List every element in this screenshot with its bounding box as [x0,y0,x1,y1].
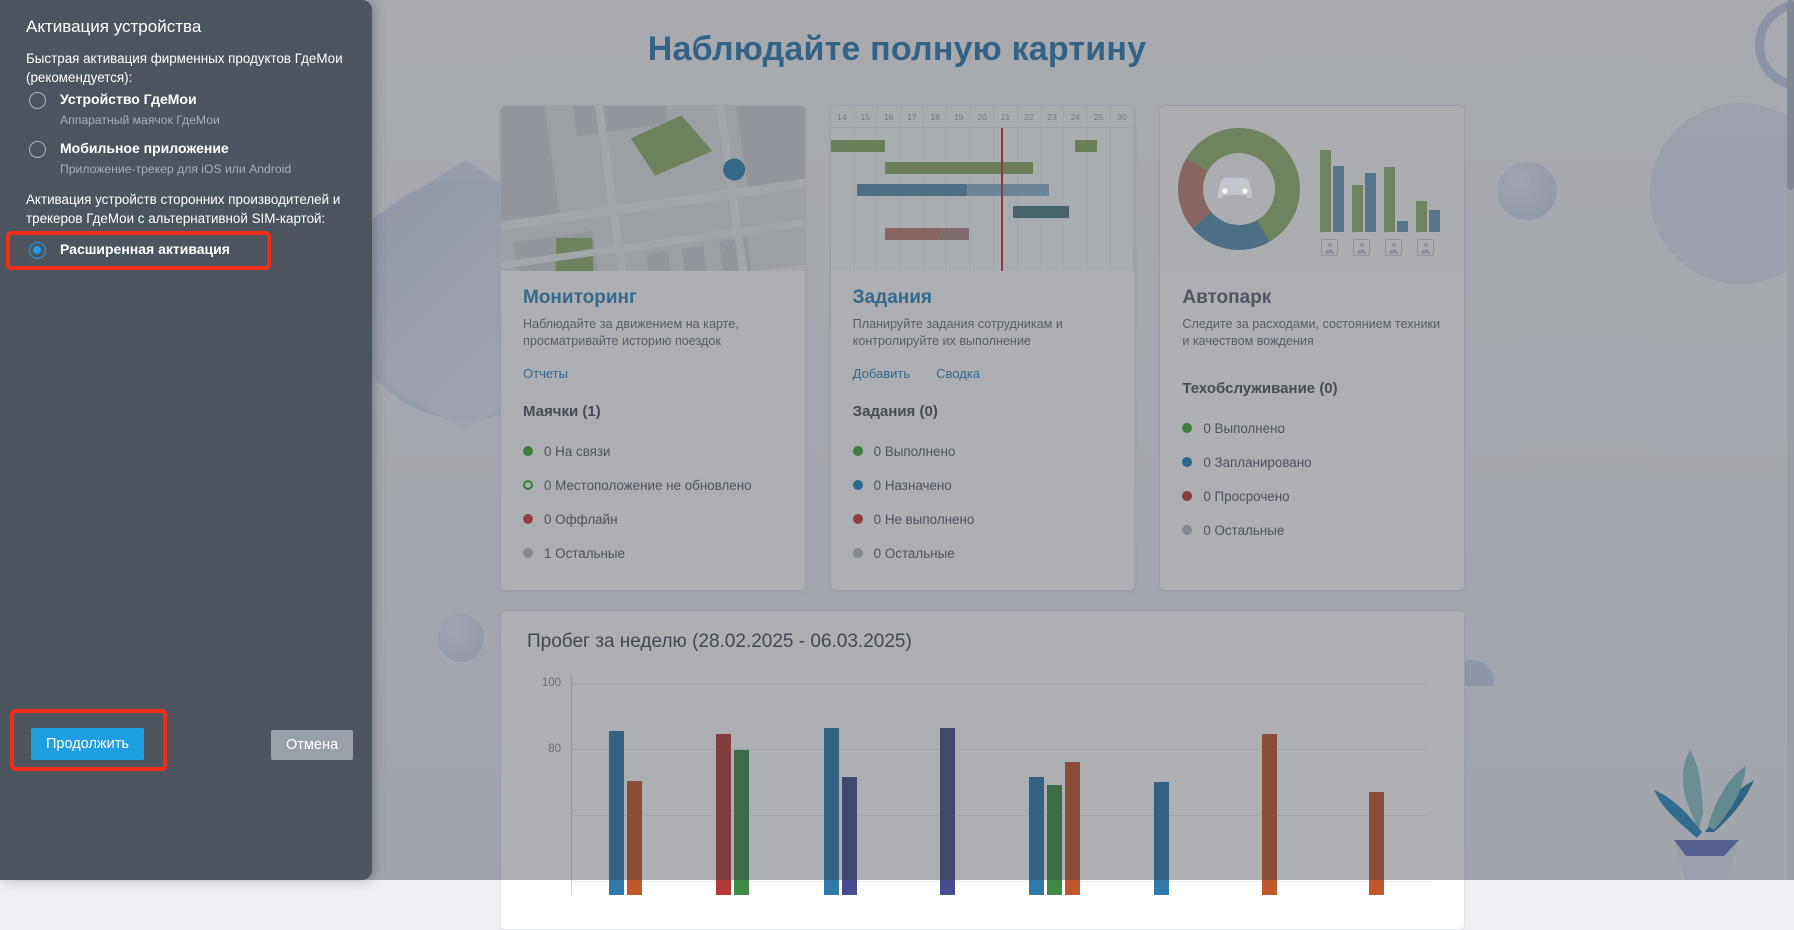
option-subtitle: Аппаратный маячок ГдеМои [60,112,352,128]
activation-dialog: Активация устройства Быстрая активация ф… [0,0,372,880]
radio-option-mobile-app[interactable]: Мобильное приложение Приложение-трекер д… [26,139,352,177]
dialog-lead-text: Быстрая активация фирменных продуктов Гд… [26,50,348,87]
highlight-box-extended-activation [6,231,271,270]
option-subtitle: Приложение-трекер для iOS или Android [60,161,352,177]
radio-option-device[interactable]: Устройство ГдеМои Аппаратный маячок ГдеМ… [26,90,352,128]
radio-icon[interactable] [29,141,46,158]
option-title: Устройство ГдеМои [60,90,352,109]
car-icon [1212,168,1258,208]
dialog-title: Активация устройства [26,17,201,37]
option-title: Мобильное приложение [60,139,352,158]
continue-button[interactable]: Продолжить [31,728,144,760]
radio-icon[interactable] [29,92,46,109]
cancel-button[interactable]: Отмена [271,730,353,760]
dialog-lead-text-2: Активация устройств сторонних производит… [26,191,348,228]
